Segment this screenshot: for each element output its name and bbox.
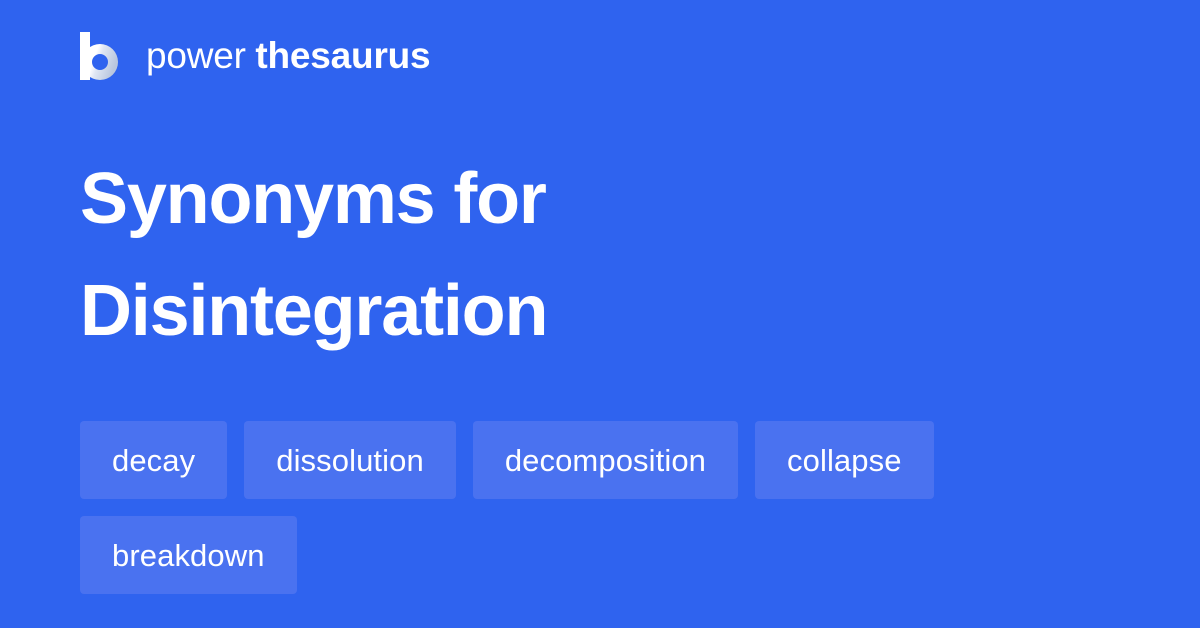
synonym-chip[interactable]: decomposition xyxy=(473,421,738,499)
brand-word-power: power xyxy=(146,37,246,74)
social-share-card: powerthesaurus Synonyms for Disintegrati… xyxy=(0,0,1200,628)
page-title: Synonyms for Disintegration xyxy=(80,143,1080,367)
brand-logo-lockup[interactable]: powerthesaurus xyxy=(80,28,430,84)
page-title-line-1: Synonyms for xyxy=(80,143,1080,255)
synonym-chip[interactable]: breakdown xyxy=(80,516,297,594)
brand-word-thesaurus: thesaurus xyxy=(255,37,430,74)
synonym-chip[interactable]: decay xyxy=(80,421,227,499)
page-title-line-2: Disintegration xyxy=(80,255,1080,367)
synonym-chip-list: decaydissolutiondecompositioncollapsebre… xyxy=(80,421,1120,594)
power-thesaurus-b-logo-icon xyxy=(80,32,124,80)
synonym-chip[interactable]: collapse xyxy=(755,421,934,499)
brand-wordmark: powerthesaurus xyxy=(146,37,430,76)
synonym-chip[interactable]: dissolution xyxy=(244,421,456,499)
